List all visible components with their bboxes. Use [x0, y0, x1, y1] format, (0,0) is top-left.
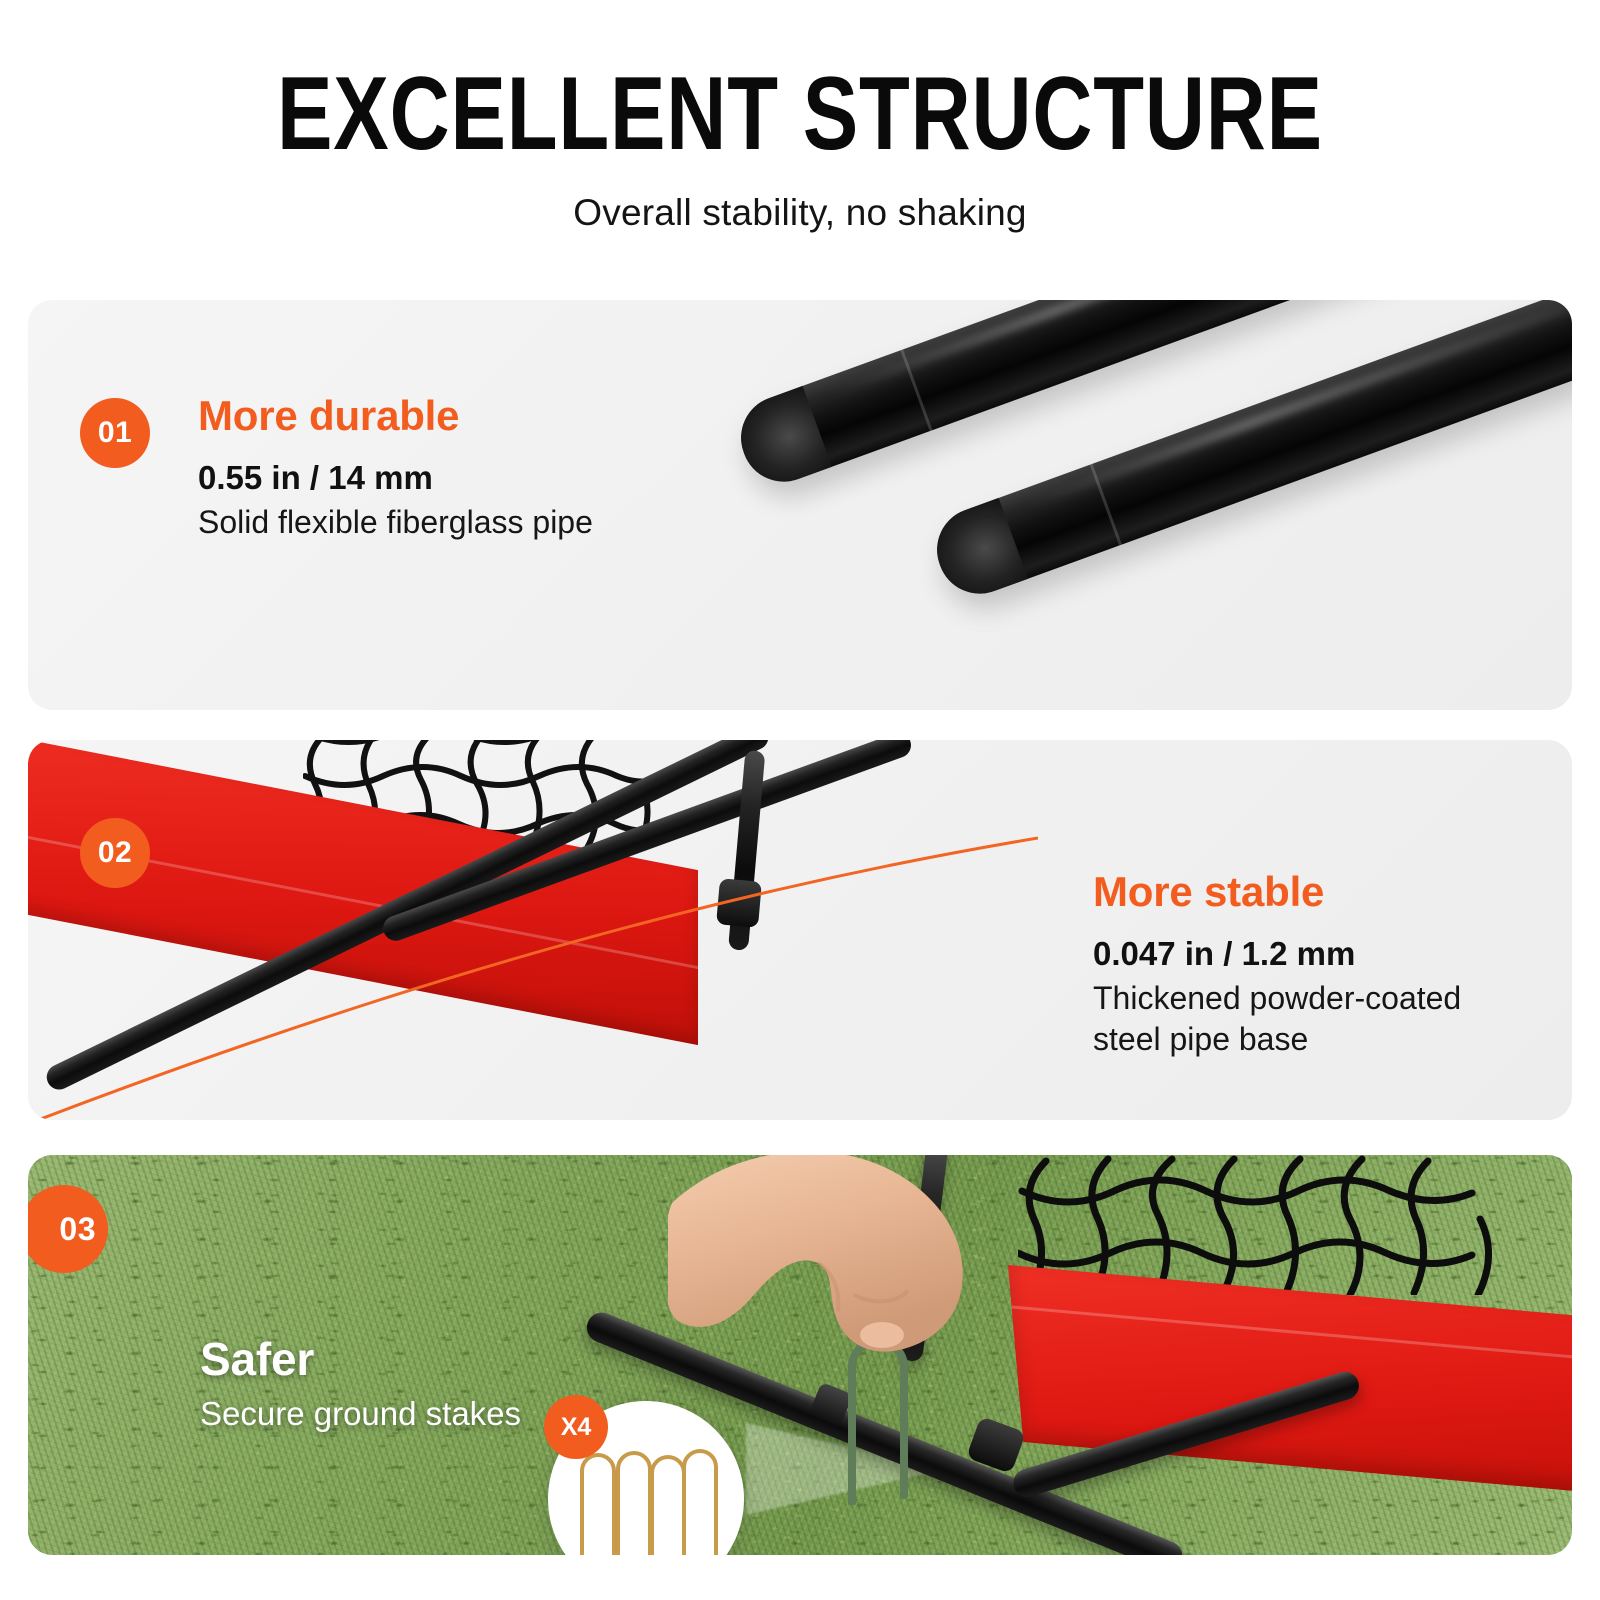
orange-guide-line	[28, 740, 1038, 1120]
page-subtitle: Overall stability, no shaking	[0, 192, 1600, 234]
grass-photo-background: X4 03 Safer Secure ground stakes	[28, 1155, 1572, 1555]
feature-description-01: Solid flexible fiberglass pipe	[198, 502, 593, 544]
feature-card-more-stable: 02 More stable 0.047 in / 1.2 mm Thicken…	[28, 740, 1572, 1120]
header: EXCELLENT STRUCTURE Overall stability, n…	[0, 0, 1600, 234]
pipe-seam-line	[1090, 464, 1122, 546]
feature-number-badge-01: 01	[80, 398, 150, 468]
quantity-badge-x4: X4	[544, 1395, 608, 1459]
page-title: EXCELLENT STRUCTURE	[160, 62, 1440, 166]
steel-base-image	[28, 740, 1038, 1120]
feature-card-more-durable: 01 More durable 0.55 in / 14 mm Solid fl…	[28, 300, 1572, 710]
fiberglass-pipes-image	[692, 300, 1572, 710]
feature-text-block-02: More stable 0.047 in / 1.2 mm Thickened …	[1093, 870, 1461, 1061]
hand-icon	[668, 1155, 998, 1425]
feature-heading-03: Safer	[200, 1335, 521, 1383]
fabric-seam-line	[1011, 1305, 1572, 1363]
feature-heading-01: More durable	[198, 394, 593, 438]
four-ground-stakes-icon	[576, 1437, 718, 1555]
pipe-seam-line	[900, 349, 932, 431]
feature-description-02-line2: steel pipe base	[1093, 1019, 1461, 1061]
feature-spec-01: 0.55 in / 14 mm	[198, 458, 593, 498]
feature-description-02-line1: Thickened powder-coated	[1093, 978, 1461, 1020]
feature-heading-02: More stable	[1093, 870, 1461, 914]
feature-description-03: Secure ground stakes	[200, 1393, 521, 1436]
feature-number-badge-02: 02	[80, 818, 150, 888]
feature-card-safer: X4 03 Safer Secure ground stakes	[28, 1155, 1572, 1555]
feature-text-block-01: More durable 0.55 in / 14 mm Solid flexi…	[198, 394, 593, 543]
feature-text-block-03: Safer Secure ground stakes	[200, 1335, 521, 1436]
feature-card-list: 01 More durable 0.55 in / 14 mm Solid fl…	[28, 300, 1572, 1555]
feature-spec-02: 0.047 in / 1.2 mm	[1093, 934, 1461, 974]
